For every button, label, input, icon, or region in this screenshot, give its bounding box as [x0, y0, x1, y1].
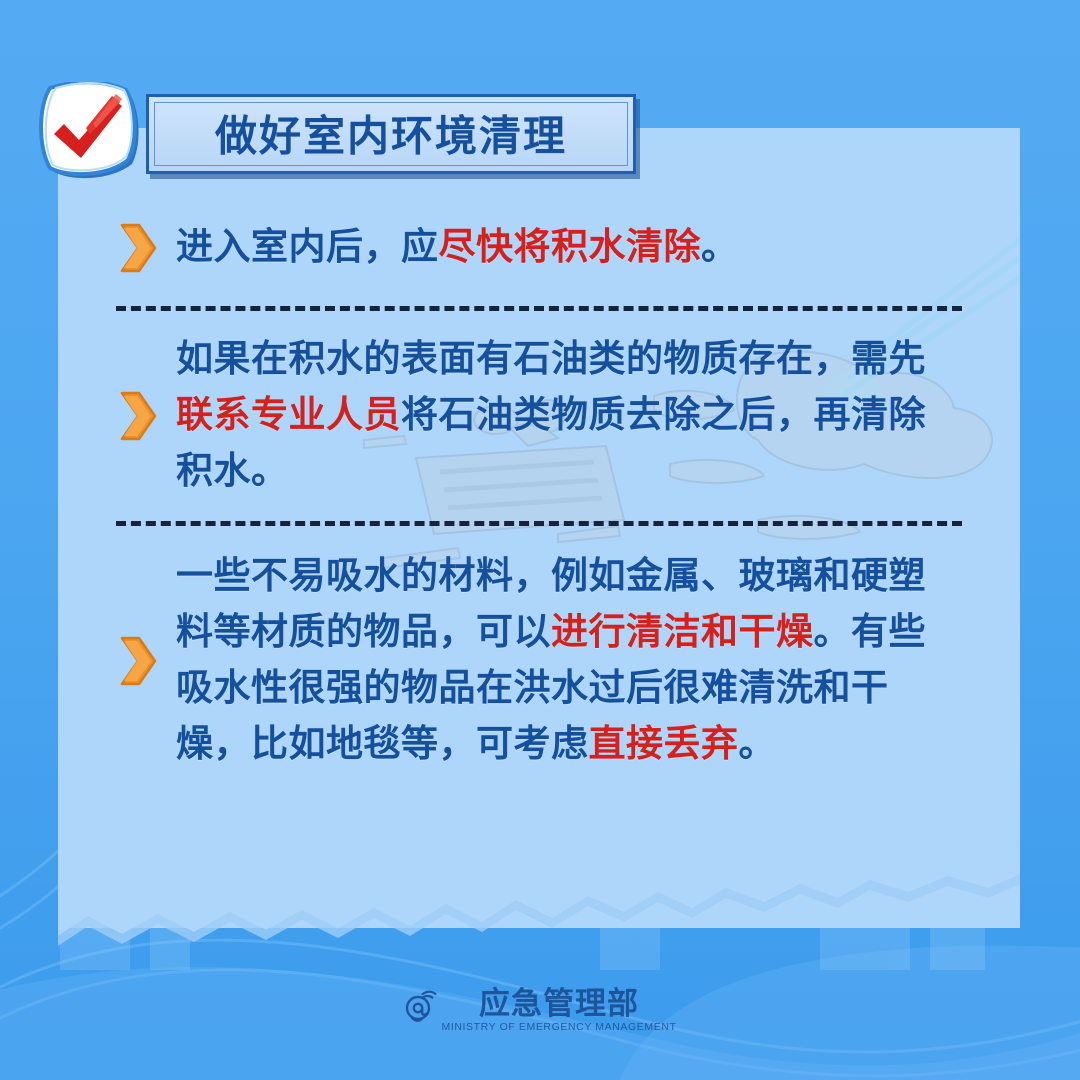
watermark-org-name: 应急管理部 [479, 978, 639, 1023]
watermark-text-stack: 应急管理部 MINISTRY OF EMERGENCY MANAGEMENT [441, 978, 676, 1033]
text-segment-highlight: 尽快将积水清除 [439, 227, 702, 268]
list-item: 进入室内后，应尽快将积水清除。 [58, 200, 1020, 296]
chevron-right-icon [116, 635, 158, 687]
list-item: 一些不易吸水的材料，例如金属、玻璃和硬塑料等材质的物品，可以进行清洁和干燥。有些… [58, 536, 1020, 786]
list-item-text: 进入室内后，应尽快将积水清除。 [176, 220, 962, 276]
chevron-right-icon [116, 222, 158, 274]
list-item-text: 一些不易吸水的材料，例如金属、玻璃和硬塑料等材质的物品，可以进行清洁和干燥。有些… [176, 549, 962, 774]
text-segment: 。 [739, 724, 777, 765]
text-segment-highlight: 直接丢弃 [589, 724, 739, 765]
dashed-divider [116, 306, 962, 311]
at-sign-wifi-icon [403, 989, 437, 1023]
divider-wrap [58, 511, 1020, 536]
watermark-org-name-en: MINISTRY OF EMERGENCY MANAGEMENT [441, 1021, 676, 1033]
chevron-right-icon [116, 390, 158, 442]
dashed-divider [116, 521, 962, 526]
divider-wrap [58, 296, 1020, 321]
text-segment: 。 [701, 227, 739, 268]
footer-watermark: 应急管理部 MINISTRY OF EMERGENCY MANAGEMENT [0, 978, 1080, 1033]
text-segment-highlight: 进行清洁和干燥 [551, 612, 814, 653]
page-title: 做好室内环境清理 [149, 102, 633, 163]
text-segment: 如果在积水的表面有石油类的物质存在，需先 [176, 339, 926, 380]
poster-root: 做好室内环境清理 进入室内后，应尽快将积水清除。 如果在积水的表面有石油类的物 [0, 0, 1080, 1080]
list-item-text: 如果在积水的表面有石油类的物质存在，需先联系专业人员将石油类物质去除之后，再清除… [176, 332, 962, 501]
title-banner: 做好室内环境清理 [146, 94, 636, 174]
text-segment: 进入室内后，应 [176, 227, 439, 268]
text-segment-highlight: 联系专业人员 [176, 395, 401, 436]
check-mark-icon [34, 82, 146, 186]
header: 做好室内环境清理 [34, 78, 614, 190]
watermark-row: 应急管理部 MINISTRY OF EMERGENCY MANAGEMENT [403, 978, 676, 1033]
list-item: 如果在积水的表面有石油类的物质存在，需先联系专业人员将石油类物质去除之后，再清除… [58, 321, 1020, 511]
tips-list: 进入室内后，应尽快将积水清除。 如果在积水的表面有石油类的物质存在，需先联系专业… [58, 200, 1020, 786]
